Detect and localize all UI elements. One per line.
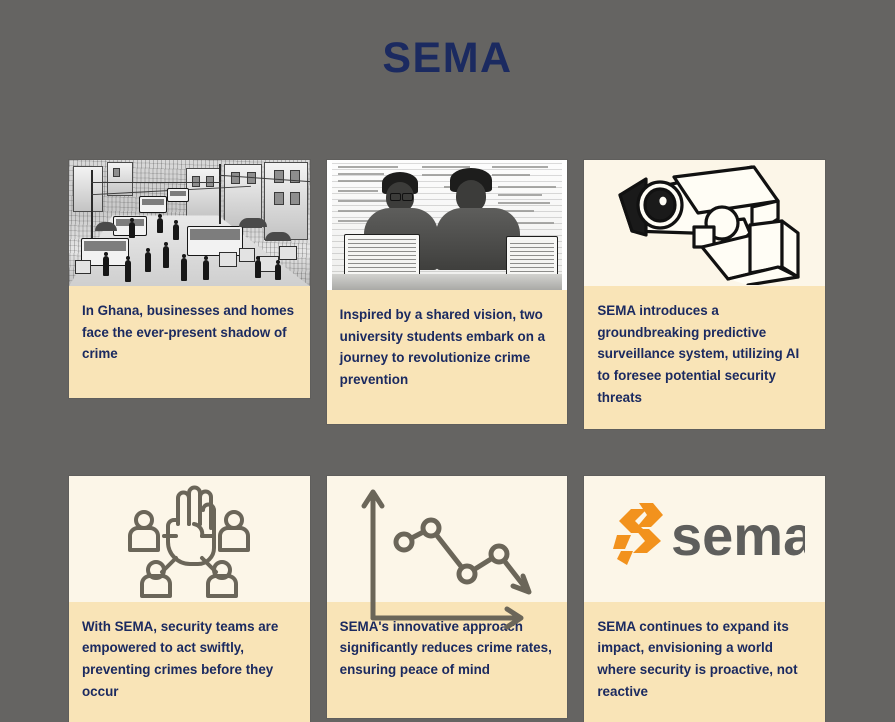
cctv-camera-icon xyxy=(584,160,825,286)
sema-logo-area: sema xyxy=(584,476,825,602)
sema-logo-wordmark: sema xyxy=(671,504,805,567)
ghana-street-scene-photo xyxy=(69,160,310,286)
card-row-top: In Ghana, businesses and homes face the … xyxy=(69,160,825,429)
declining-line-chart-icon xyxy=(327,476,568,602)
team-icon-area xyxy=(69,476,310,602)
card-students-vision[interactable]: Inspired by a shared vision, two univers… xyxy=(327,160,568,424)
slide-canvas: SEMA xyxy=(0,0,895,712)
cctv-camera-icon-area xyxy=(584,160,825,286)
card-row-bottom: With SEMA, security teams are empowered … xyxy=(69,476,825,722)
chart-icon-area xyxy=(327,476,568,602)
sema-logo-mark xyxy=(613,503,663,565)
two-students-coding-photo xyxy=(327,160,568,290)
card-caption: SEMA continues to expand its impact, env… xyxy=(584,602,825,722)
card-security-teams[interactable]: With SEMA, security teams are empowered … xyxy=(69,476,310,722)
story-card-grid: In Ghana, businesses and homes face the … xyxy=(69,160,825,722)
card-caption: Inspired by a shared vision, two univers… xyxy=(327,290,568,424)
page-title: SEMA xyxy=(0,34,895,83)
card-crime-reduction[interactable]: SEMA's innovative approach significantly… xyxy=(327,476,568,718)
sema-logo: sema xyxy=(584,476,825,602)
street-photo-backdrop xyxy=(69,160,310,286)
card-caption: In Ghana, businesses and homes face the … xyxy=(69,286,310,398)
raised-fist-team-network-icon xyxy=(69,476,310,602)
students-photo-frame xyxy=(327,160,568,290)
card-ghana-crime[interactable]: In Ghana, businesses and homes face the … xyxy=(69,160,310,398)
card-caption: SEMA introduces a groundbreaking predict… xyxy=(584,286,825,429)
card-caption: With SEMA, security teams are empowered … xyxy=(69,602,310,722)
card-expanding-impact[interactable]: sema SEMA continues to expand its impact… xyxy=(584,476,825,722)
card-predictive-surveillance[interactable]: SEMA introduces a groundbreaking predict… xyxy=(584,160,825,429)
